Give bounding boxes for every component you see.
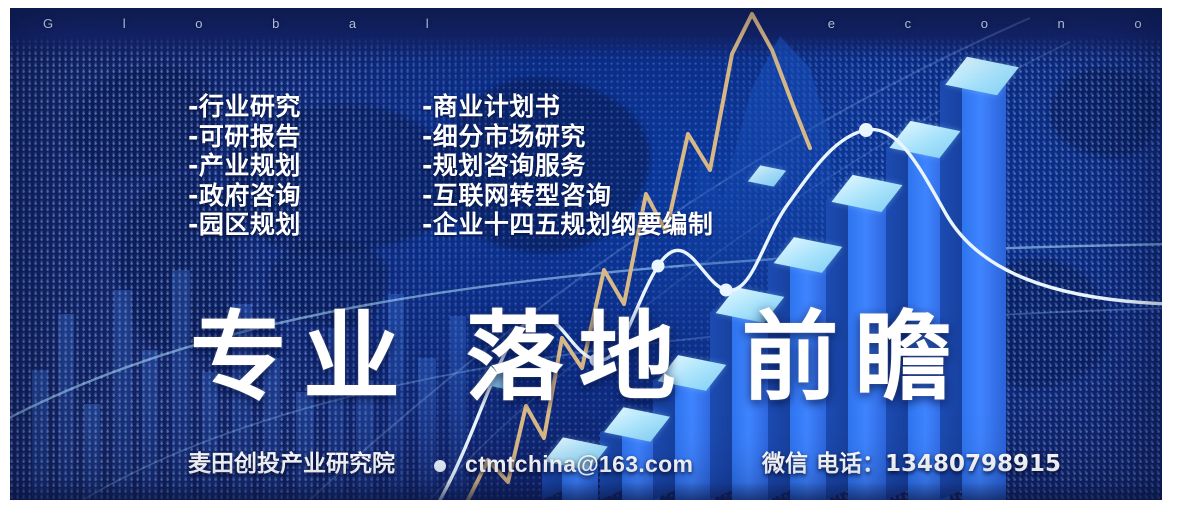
- service-item: -园区规划: [188, 210, 301, 240]
- bottom-fade: [10, 482, 1162, 500]
- service-list-left: -行业研究 -可研报告 -产业规划 -政府咨询 -园区规划: [188, 92, 301, 240]
- chart-line-white: [10, 8, 1162, 500]
- header-title: G l o b a l e c o n o m y: [10, 16, 1162, 31]
- footer-email[interactable]: ctmtchina@163.com: [465, 448, 693, 480]
- footer-contact: 微信 电话：13480798915: [762, 448, 1061, 480]
- service-item: -规划咨询服务: [422, 151, 713, 181]
- service-item: -行业研究: [188, 92, 301, 122]
- service-item: -商业计划书: [422, 92, 713, 122]
- service-item: -企业十四五规划纲要编制: [422, 210, 713, 240]
- service-list-right: -商业计划书 -细分市场研究 -规划咨询服务 -互联网转型咨询 -企业十四五规划…: [422, 92, 713, 240]
- footer-bar: 麦田创投产业研究院 ctmtchina@163.com 微信 电话：134807…: [10, 448, 1162, 484]
- service-item: -互联网转型咨询: [422, 181, 713, 211]
- service-item: -细分市场研究: [422, 122, 713, 152]
- service-item: -可研报告: [188, 122, 301, 152]
- chart-area: [10, 8, 1162, 500]
- headline-slogan: 专业 落地 前瞻: [190, 306, 968, 410]
- service-item: -政府咨询: [188, 181, 301, 211]
- footer-company-name: 麦田创投产业研究院: [188, 448, 395, 480]
- banner-root: G l o b a l e c o n o m y -行业研究 -可研报告 -产…: [10, 8, 1162, 500]
- service-item: -产业规划: [188, 151, 301, 181]
